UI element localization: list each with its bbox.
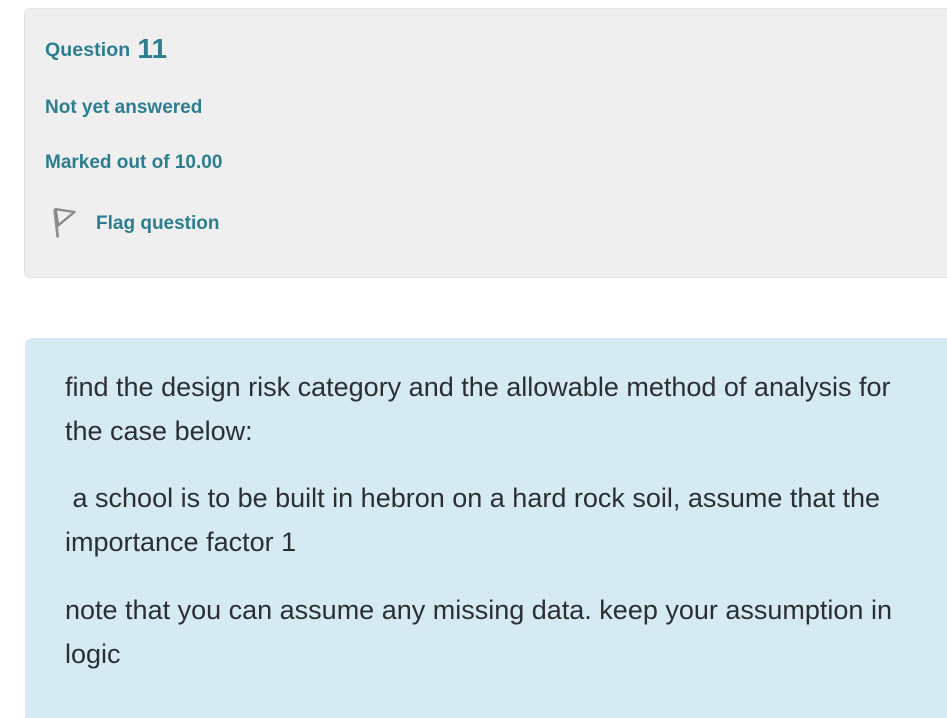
question-heading: Question11	[45, 35, 947, 63]
question-text-panel: find the design risk category and the al…	[25, 338, 947, 718]
question-status: Not yet answered	[45, 98, 947, 117]
question-number: 11	[137, 33, 167, 64]
question-info-panel: Question11 Not yet answered Marked out o…	[24, 8, 947, 278]
question-paragraph-2: a school is to be built in hebron on a h…	[65, 477, 910, 564]
question-paragraph-1: find the design risk category and the al…	[65, 366, 910, 453]
flag-question-label[interactable]: Flag question	[96, 214, 220, 233]
flag-icon[interactable]	[47, 206, 77, 240]
question-marks: Marked out of 10.00	[45, 153, 947, 172]
question-heading-label: Question	[45, 39, 130, 61]
flag-question-control[interactable]: Flag question	[45, 206, 947, 240]
quiz-question-page: Question11 Not yet answered Marked out o…	[0, 0, 947, 710]
question-paragraph-3: note that you can assume any missing dat…	[65, 589, 910, 676]
